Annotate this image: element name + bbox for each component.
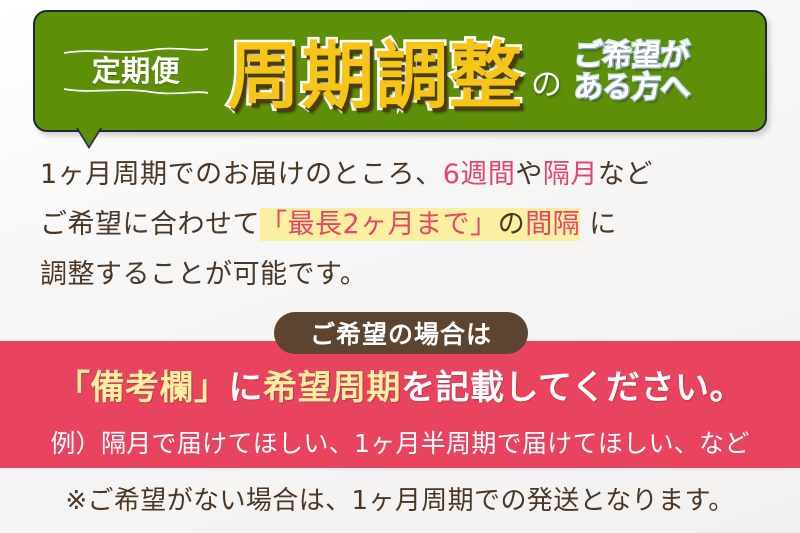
- callout-badge: ご希望の場合は: [274, 312, 528, 354]
- subscription-label-group: 定期便: [61, 47, 211, 95]
- header-target-line-2: ある方へ: [574, 71, 690, 103]
- body-line-1: 1ヶ月周期でのお届けのところ、6週間や隔月など: [40, 150, 770, 200]
- body-line2-highlight-interval: 間隔: [525, 208, 580, 241]
- header-target-line-1: ご希望が: [574, 39, 690, 71]
- body-paragraph: 1ヶ月周期でのお届けのところ、6週間や隔月など ご希望に合わせて「最長2ヶ月まで…: [40, 150, 770, 300]
- callout-badge-label: ご希望の場合は: [310, 315, 492, 351]
- body-line1-accent-bimonthly: 隔月: [543, 159, 598, 190]
- body-line1-part-c: や: [515, 159, 543, 190]
- instruction-field-name: 「備考欄」: [56, 368, 229, 408]
- body-line-3: 調整することが可能です。: [40, 250, 770, 300]
- instruction-desired-cycle: 希望周期: [263, 368, 401, 408]
- header-particle: の: [531, 59, 562, 104]
- header-banner: 定期便 周期調整 の ご希望が ある方へ: [0, 0, 800, 142]
- body-line-2: ご希望に合わせて「最長2ヶ月まで」の間隔 に: [40, 200, 770, 250]
- instruction-part-d: を記載してください。: [401, 368, 744, 408]
- body-line1-accent-weeks: 6週間: [443, 159, 516, 190]
- instruction-part-b: に: [229, 368, 264, 408]
- body-line2-part-e: に: [580, 209, 617, 240]
- instruction-example-text: 例）隔月で届けてほしい、1ヶ月半周期で届けてほしい、など: [0, 424, 800, 460]
- speech-bubble-tail: [78, 128, 100, 146]
- body-line1-part-a: 1ヶ月周期でのお届けのところ、: [40, 159, 443, 190]
- subscription-label: 定期便: [61, 56, 211, 86]
- body-line2-part-c: の: [498, 208, 526, 241]
- header-target-audience: ご希望が ある方へ: [574, 39, 690, 104]
- body-line2-highlight-max: 「最長2ヶ月まで」: [260, 208, 498, 241]
- body-line2-part-a: ご希望に合わせて: [40, 209, 260, 240]
- header-title: 周期調整: [227, 17, 523, 123]
- body-line1-part-e: など: [598, 159, 653, 190]
- footer-note: ※ご希望がない場合は、1ヶ月周期での発送となります。: [0, 480, 800, 517]
- instruction-main-text: 「備考欄」に希望周期を記載してください。: [0, 360, 800, 409]
